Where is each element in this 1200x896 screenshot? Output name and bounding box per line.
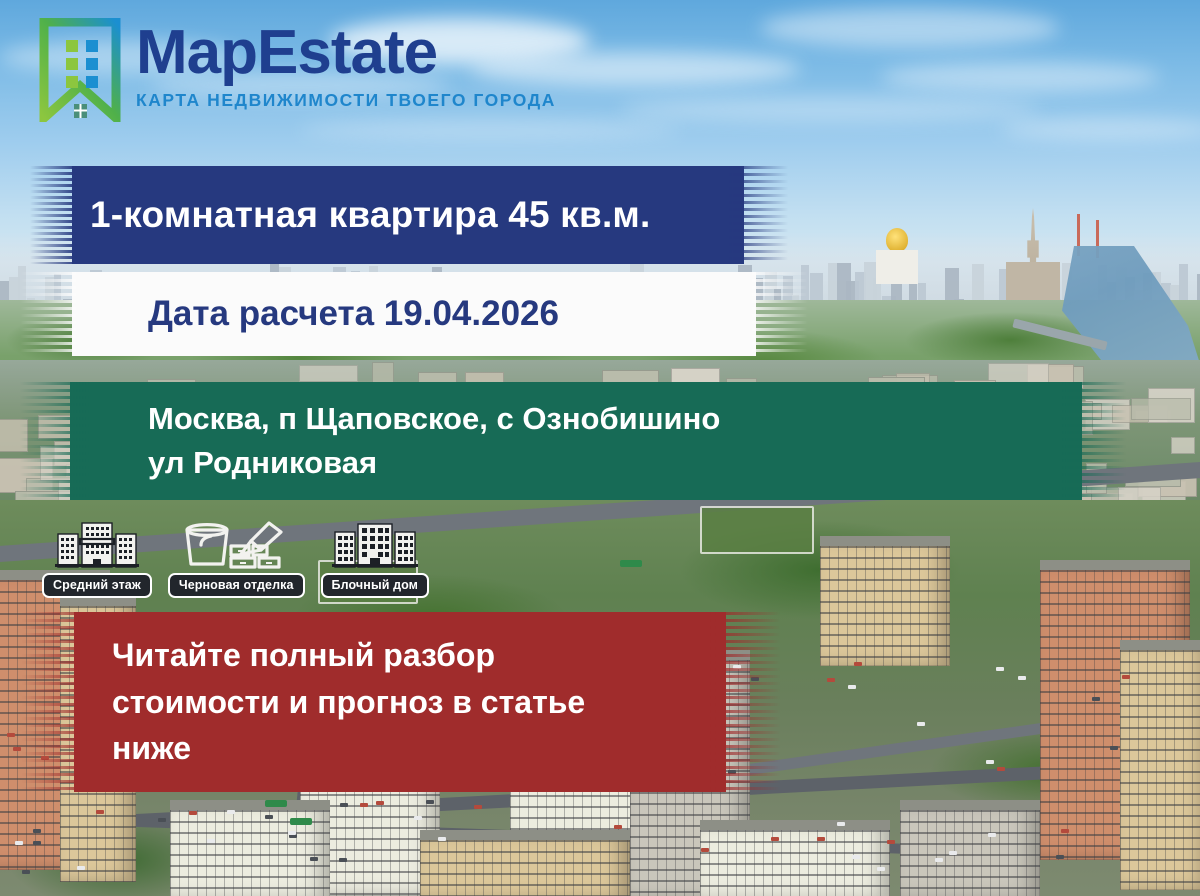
address-text-block: Москва, п Щаповское, с Ознобишино ул Род… bbox=[26, 397, 1122, 485]
bookmark-building-icon bbox=[38, 18, 122, 122]
cta-line-1: Читайте полный разбор bbox=[112, 632, 770, 679]
car bbox=[33, 829, 41, 833]
roof bbox=[900, 800, 1040, 810]
roof bbox=[700, 820, 890, 830]
cloud bbox=[300, 120, 680, 140]
property-title: 1-комнатная квартира 45 кв.м. bbox=[38, 194, 778, 236]
car bbox=[227, 810, 235, 814]
brand-name: MapEstate bbox=[136, 24, 556, 83]
feature-badges: Средний этаж bbox=[42, 520, 429, 598]
car bbox=[1092, 697, 1100, 701]
car bbox=[13, 747, 21, 751]
car bbox=[376, 801, 384, 805]
car bbox=[7, 733, 15, 737]
bus bbox=[620, 560, 642, 567]
residential-tower bbox=[420, 830, 630, 896]
badge-rough-finish[interactable]: Черновая отделка bbox=[168, 520, 305, 598]
car bbox=[1061, 829, 1069, 833]
car bbox=[949, 851, 957, 855]
facade bbox=[420, 840, 630, 896]
mid-building bbox=[1131, 398, 1191, 421]
brand-logo[interactable]: MapEstate КАРТА НЕДВИЖИМОСТИ ТВОЕГО ГОРО… bbox=[38, 18, 556, 122]
car bbox=[438, 837, 446, 841]
apartment-building-icon bbox=[55, 520, 139, 570]
facade bbox=[900, 810, 1040, 896]
car bbox=[1056, 855, 1064, 859]
cta-line-2: стоимости и прогноз в статье bbox=[112, 679, 770, 726]
bus bbox=[265, 800, 287, 807]
car bbox=[15, 841, 23, 845]
cta-banner: Читайте полный разбор стоимости и прогно… bbox=[30, 612, 770, 792]
mid-building bbox=[299, 365, 357, 382]
car bbox=[414, 816, 422, 820]
badge-label: Средний этаж bbox=[42, 573, 152, 598]
car bbox=[887, 840, 895, 844]
title-banner: 1-комнатная квартира 45 кв.м. bbox=[38, 166, 778, 264]
car bbox=[701, 848, 709, 852]
car bbox=[474, 805, 482, 809]
car bbox=[997, 767, 1005, 771]
car bbox=[771, 837, 779, 841]
badge-middle-floor[interactable]: Средний этаж bbox=[42, 520, 152, 598]
car bbox=[917, 722, 925, 726]
facade bbox=[820, 546, 950, 666]
car bbox=[854, 662, 862, 666]
car bbox=[340, 803, 348, 807]
car bbox=[360, 803, 368, 807]
date-banner: Дата расчета 19.04.2026 bbox=[36, 272, 792, 356]
badge-label: Черновая отделка bbox=[168, 573, 305, 598]
roof bbox=[1040, 560, 1190, 570]
car bbox=[827, 678, 835, 682]
cloud bbox=[760, 8, 1060, 48]
promo-poster: MapEstate КАРТА НЕДВИЖИМОСТИ ТВОЕГО ГОРО… bbox=[0, 0, 1200, 896]
calculation-date: Дата расчета 19.04.2026 bbox=[36, 294, 792, 334]
address-line-2: ул Родниковая bbox=[148, 441, 1122, 485]
facade bbox=[1120, 650, 1200, 890]
car bbox=[1018, 676, 1026, 680]
car bbox=[265, 815, 273, 819]
car bbox=[426, 800, 434, 804]
car bbox=[996, 667, 1004, 671]
logo-text-block: MapEstate КАРТА НЕДВИЖИМОСТИ ТВОЕГО ГОРО… bbox=[136, 18, 556, 111]
address-banner: Москва, п Щаповское, с Ознобишино ул Род… bbox=[26, 382, 1122, 500]
paint-bucket-trowel-bricks-icon bbox=[181, 520, 291, 570]
cloud bbox=[620, 96, 1040, 122]
roof bbox=[820, 536, 950, 546]
car bbox=[988, 833, 996, 837]
cta-text-block: Читайте полный разбор стоимости и прогно… bbox=[30, 632, 770, 772]
roof bbox=[170, 800, 330, 810]
car bbox=[96, 810, 104, 814]
mid-building bbox=[0, 419, 28, 452]
car bbox=[817, 837, 825, 841]
car bbox=[310, 857, 318, 861]
car bbox=[158, 818, 166, 822]
car bbox=[33, 841, 41, 845]
residential-tower bbox=[900, 800, 1040, 896]
car bbox=[22, 870, 30, 874]
car bbox=[935, 858, 943, 862]
residential-tower bbox=[700, 820, 890, 896]
car bbox=[207, 839, 215, 843]
car bbox=[837, 822, 845, 826]
car bbox=[1122, 675, 1130, 679]
residential-tower bbox=[820, 536, 950, 666]
car bbox=[189, 811, 197, 815]
car bbox=[986, 760, 994, 764]
roof bbox=[420, 830, 630, 840]
block-house-icon bbox=[332, 520, 418, 570]
car bbox=[339, 858, 347, 862]
badge-label: Блочный дом bbox=[321, 573, 429, 598]
car bbox=[614, 825, 622, 829]
bus bbox=[290, 818, 312, 825]
car bbox=[1110, 746, 1118, 750]
mid-building bbox=[1171, 437, 1194, 454]
golden-dome bbox=[886, 228, 908, 252]
residential-tower bbox=[1120, 640, 1200, 890]
car bbox=[288, 831, 296, 835]
car bbox=[848, 685, 856, 689]
badge-block-house[interactable]: Блочный дом bbox=[321, 520, 429, 598]
cta-line-3: ниже bbox=[112, 725, 770, 772]
car bbox=[877, 867, 885, 871]
car bbox=[852, 855, 860, 859]
car bbox=[77, 866, 85, 870]
cathedral-base bbox=[876, 250, 918, 284]
mid-building bbox=[988, 363, 1048, 383]
address-line-1: Москва, п Щаповское, с Ознобишино bbox=[148, 397, 1122, 441]
cloud bbox=[880, 62, 1160, 92]
sports-pitch bbox=[700, 506, 814, 554]
brand-tagline: КАРТА НЕДВИЖИМОСТИ ТВОЕГО ГОРОДА bbox=[136, 90, 556, 111]
facade bbox=[700, 830, 890, 896]
roof bbox=[1120, 640, 1200, 650]
